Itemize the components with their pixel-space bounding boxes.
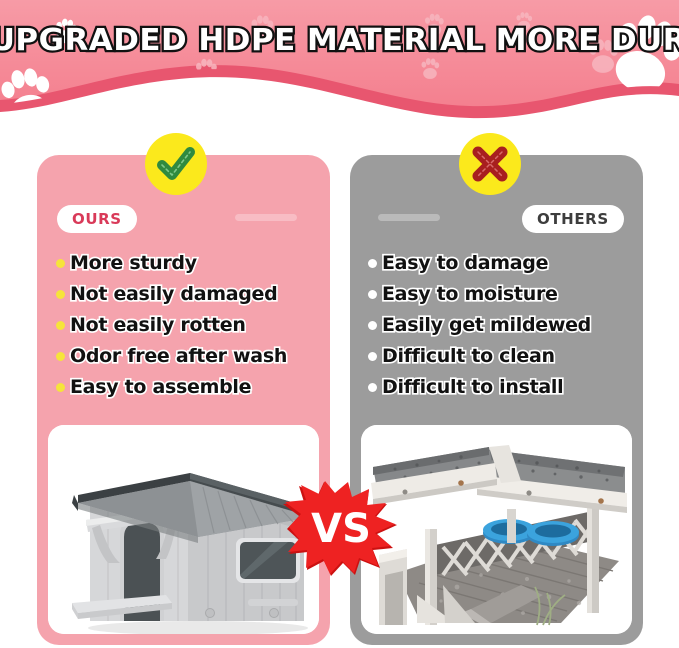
- list-item: Easy to damage: [368, 248, 658, 278]
- bullet-dot-icon: [56, 290, 65, 299]
- check-mark-badge: [145, 133, 207, 195]
- label-pill-others: OTHERS: [522, 205, 624, 233]
- feature-list-others: Easy to damage Easy to moisture Easily g…: [368, 248, 658, 403]
- decorative-bar-others: [378, 214, 440, 221]
- pill-label-ours: OURS: [72, 210, 122, 228]
- list-item: Easily get mildewed: [368, 310, 658, 340]
- check-mark-icon: [153, 141, 199, 187]
- feature-list-ours: More sturdy Not easily damaged Not easil…: [56, 248, 326, 403]
- list-item-label: Odor free after wash: [70, 345, 287, 367]
- header-background: [0, 0, 679, 120]
- list-item: Easy to assemble: [56, 372, 326, 402]
- bullet-dot-icon: [56, 321, 65, 330]
- decorative-bar-ours: [235, 214, 297, 221]
- list-item-label: Not easily damaged: [70, 283, 277, 305]
- cross-mark-badge: [459, 133, 521, 195]
- bullet-dot-icon: [368, 352, 377, 361]
- list-item: Easy to moisture: [368, 279, 658, 309]
- bullet-dot-icon: [368, 259, 377, 268]
- bullet-dot-icon: [368, 383, 377, 392]
- list-item: Difficult to clean: [368, 341, 658, 371]
- label-pill-ours: OURS: [57, 205, 137, 233]
- bullet-dot-icon: [56, 383, 65, 392]
- pill-label-others: OTHERS: [537, 210, 609, 228]
- list-item: More sturdy: [56, 248, 326, 278]
- vs-label: VS: [277, 480, 403, 578]
- cross-mark-icon: [468, 142, 512, 186]
- list-item-label: Difficult to install: [382, 376, 563, 398]
- bullet-dot-icon: [368, 290, 377, 299]
- list-item-label: Difficult to clean: [382, 345, 555, 367]
- list-item: Odor free after wash: [56, 341, 326, 371]
- list-item-label: Easy to assemble: [70, 376, 251, 398]
- vs-badge: VS: [277, 480, 403, 578]
- list-item: Difficult to install: [368, 372, 658, 402]
- list-item: Not easily damaged: [56, 279, 326, 309]
- list-item-label: Not easily rotten: [70, 314, 246, 336]
- bullet-dot-icon: [56, 352, 65, 361]
- list-item-label: Easy to damage: [382, 252, 548, 274]
- bullet-dot-icon: [368, 321, 377, 330]
- bullet-dot-icon: [56, 259, 65, 268]
- list-item: Not easily rotten: [56, 310, 326, 340]
- list-item-label: Easy to moisture: [382, 283, 558, 305]
- header-banner: UPGRADED HDPE MATERIAL MORE DURABLE: [0, 0, 679, 120]
- list-item-label: More sturdy: [70, 252, 197, 274]
- list-item-label: Easily get mildewed: [382, 314, 591, 336]
- page-title: UPGRADED HDPE MATERIAL MORE DURABLE: [0, 23, 679, 58]
